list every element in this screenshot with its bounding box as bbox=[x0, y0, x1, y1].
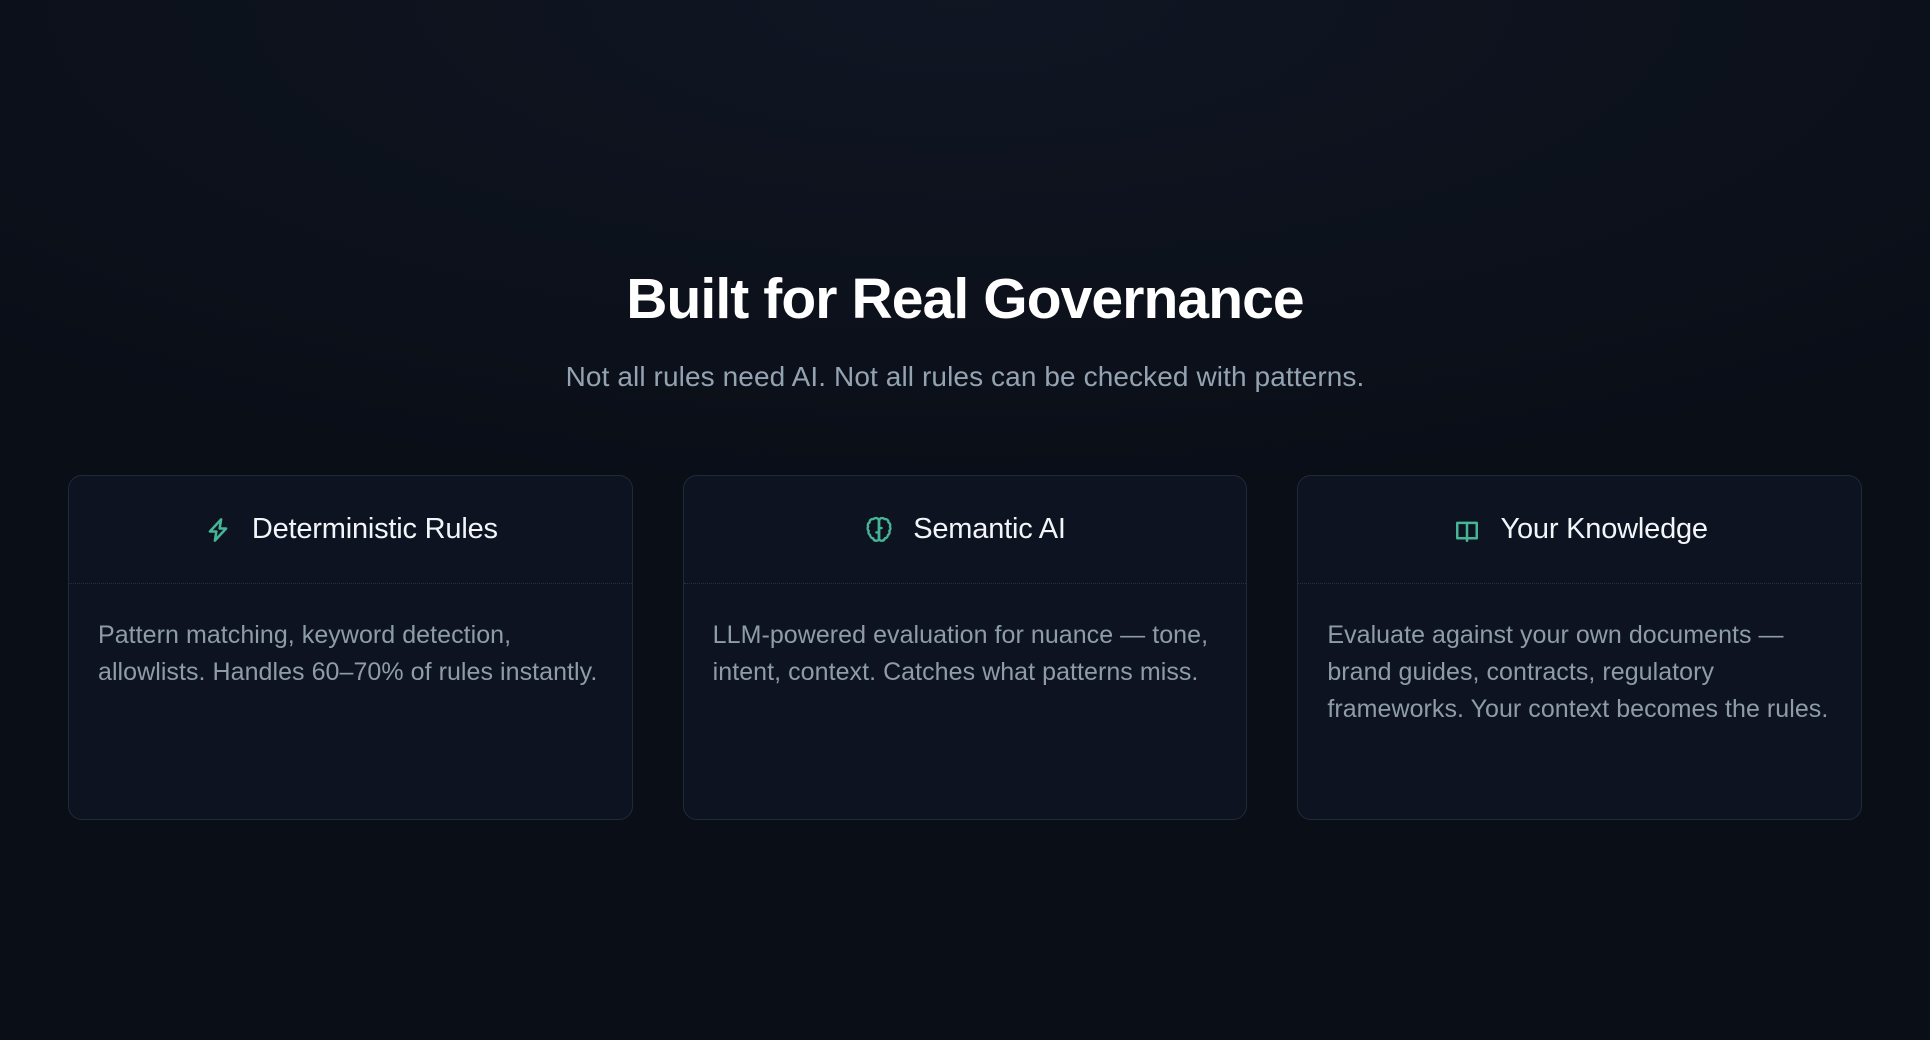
page-title: Built for Real Governance bbox=[0, 268, 1930, 332]
card-header: Semantic AI bbox=[684, 476, 1247, 584]
card-title: Deterministic Rules bbox=[252, 514, 498, 546]
card-description: Pattern matching, keyword detection, all… bbox=[98, 617, 603, 691]
features-section: Built for Real Governance Not all rules … bbox=[0, 0, 1930, 1040]
card-description: LLM-powered evaluation for nuance — tone… bbox=[713, 617, 1218, 691]
card-title: Your Knowledge bbox=[1501, 514, 1708, 546]
zap-icon bbox=[203, 515, 233, 545]
section-header: Built for Real Governance Not all rules … bbox=[0, 268, 1930, 396]
section-subtitle: Not all rules need AI. Not all rules can… bbox=[0, 358, 1930, 396]
card-body: Evaluate against your own documents — br… bbox=[1298, 584, 1861, 819]
card-header: Your Knowledge bbox=[1298, 476, 1861, 584]
card-description: Evaluate against your own documents — br… bbox=[1327, 617, 1832, 728]
feature-card-grid: Deterministic Rules Pattern matching, ke… bbox=[68, 475, 1862, 820]
card-body: LLM-powered evaluation for nuance — tone… bbox=[684, 584, 1247, 819]
book-open-icon bbox=[1452, 515, 1482, 545]
card-title: Semantic AI bbox=[913, 514, 1066, 546]
card-body: Pattern matching, keyword detection, all… bbox=[69, 584, 632, 819]
feature-card-your-knowledge[interactable]: Your Knowledge Evaluate against your own… bbox=[1297, 475, 1862, 820]
brain-icon bbox=[864, 515, 894, 545]
feature-card-deterministic-rules[interactable]: Deterministic Rules Pattern matching, ke… bbox=[68, 475, 633, 820]
card-header: Deterministic Rules bbox=[69, 476, 632, 584]
feature-card-semantic-ai[interactable]: Semantic AI LLM-powered evaluation for n… bbox=[683, 475, 1248, 820]
